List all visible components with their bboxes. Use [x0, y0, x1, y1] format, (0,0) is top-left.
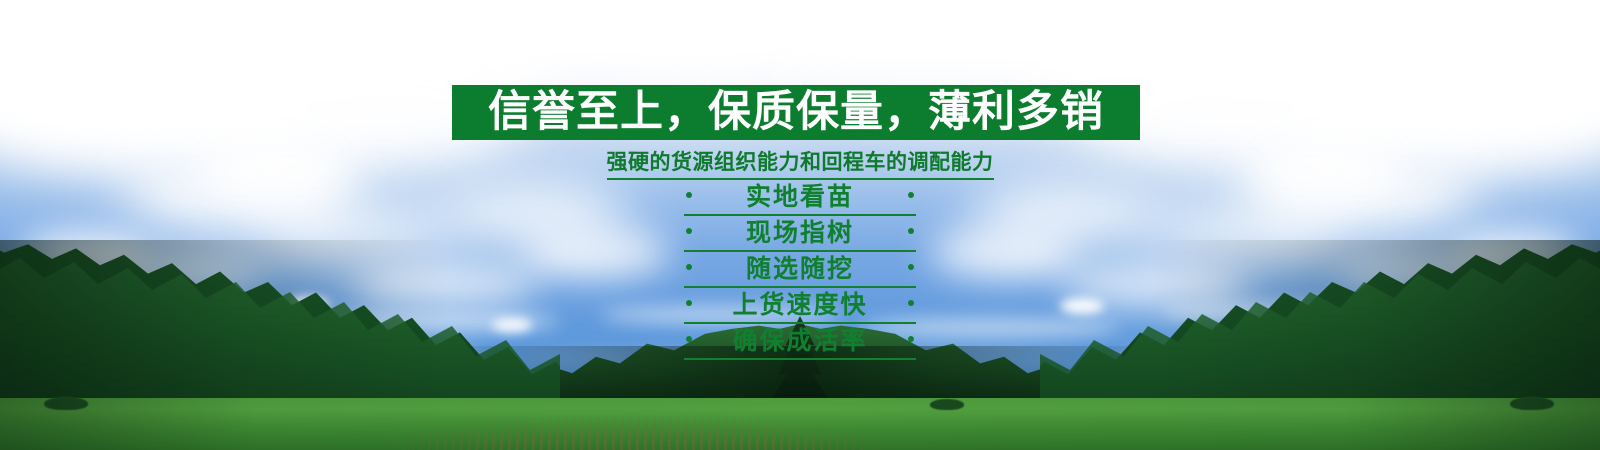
promo-banner: 信誉至上，保质保量，薄利多销 强硬的货源组织能力和回程车的调配能力 实地看苗 现…	[0, 0, 1600, 450]
bullet-dot-right-icon	[908, 228, 914, 234]
bullet-dot-right-icon	[908, 336, 914, 342]
feature-label: 上货速度快	[732, 293, 867, 318]
feature-label: 实地看苗	[746, 185, 854, 210]
feature-item: 现场指树	[684, 216, 916, 252]
subtitle: 强硬的货源组织能力和回程车的调配能力	[0, 146, 1600, 180]
subtitle-text: 强硬的货源组织能力和回程车的调配能力	[607, 146, 994, 180]
bullet-dot-left-icon	[686, 192, 692, 198]
bullet-dot-right-icon	[908, 192, 914, 198]
bullet-dot-left-icon	[686, 300, 692, 306]
bullet-dot-right-icon	[908, 300, 914, 306]
text-overlay: 信誉至上，保质保量，薄利多销 强硬的货源组织能力和回程车的调配能力 实地看苗 现…	[0, 0, 1600, 450]
feature-item: 确保成活率	[684, 324, 916, 360]
bullet-dot-left-icon	[686, 336, 692, 342]
headline-text: 信誉至上，保质保量，薄利多销	[488, 91, 1104, 134]
feature-item: 实地看苗	[684, 180, 916, 216]
bullet-dot-right-icon	[908, 264, 914, 270]
headline-banner: 信誉至上，保质保量，薄利多销	[452, 85, 1140, 140]
bullet-dot-left-icon	[686, 264, 692, 270]
feature-list: 实地看苗 现场指树 随选随挖 上货速度快 确保成活率	[0, 180, 1600, 360]
feature-item: 上货速度快	[684, 288, 916, 324]
feature-label: 随选随挖	[746, 257, 854, 282]
feature-label: 确保成活率	[732, 329, 867, 354]
feature-item: 随选随挖	[684, 252, 916, 288]
feature-label: 现场指树	[746, 221, 854, 246]
bullet-dot-left-icon	[686, 228, 692, 234]
